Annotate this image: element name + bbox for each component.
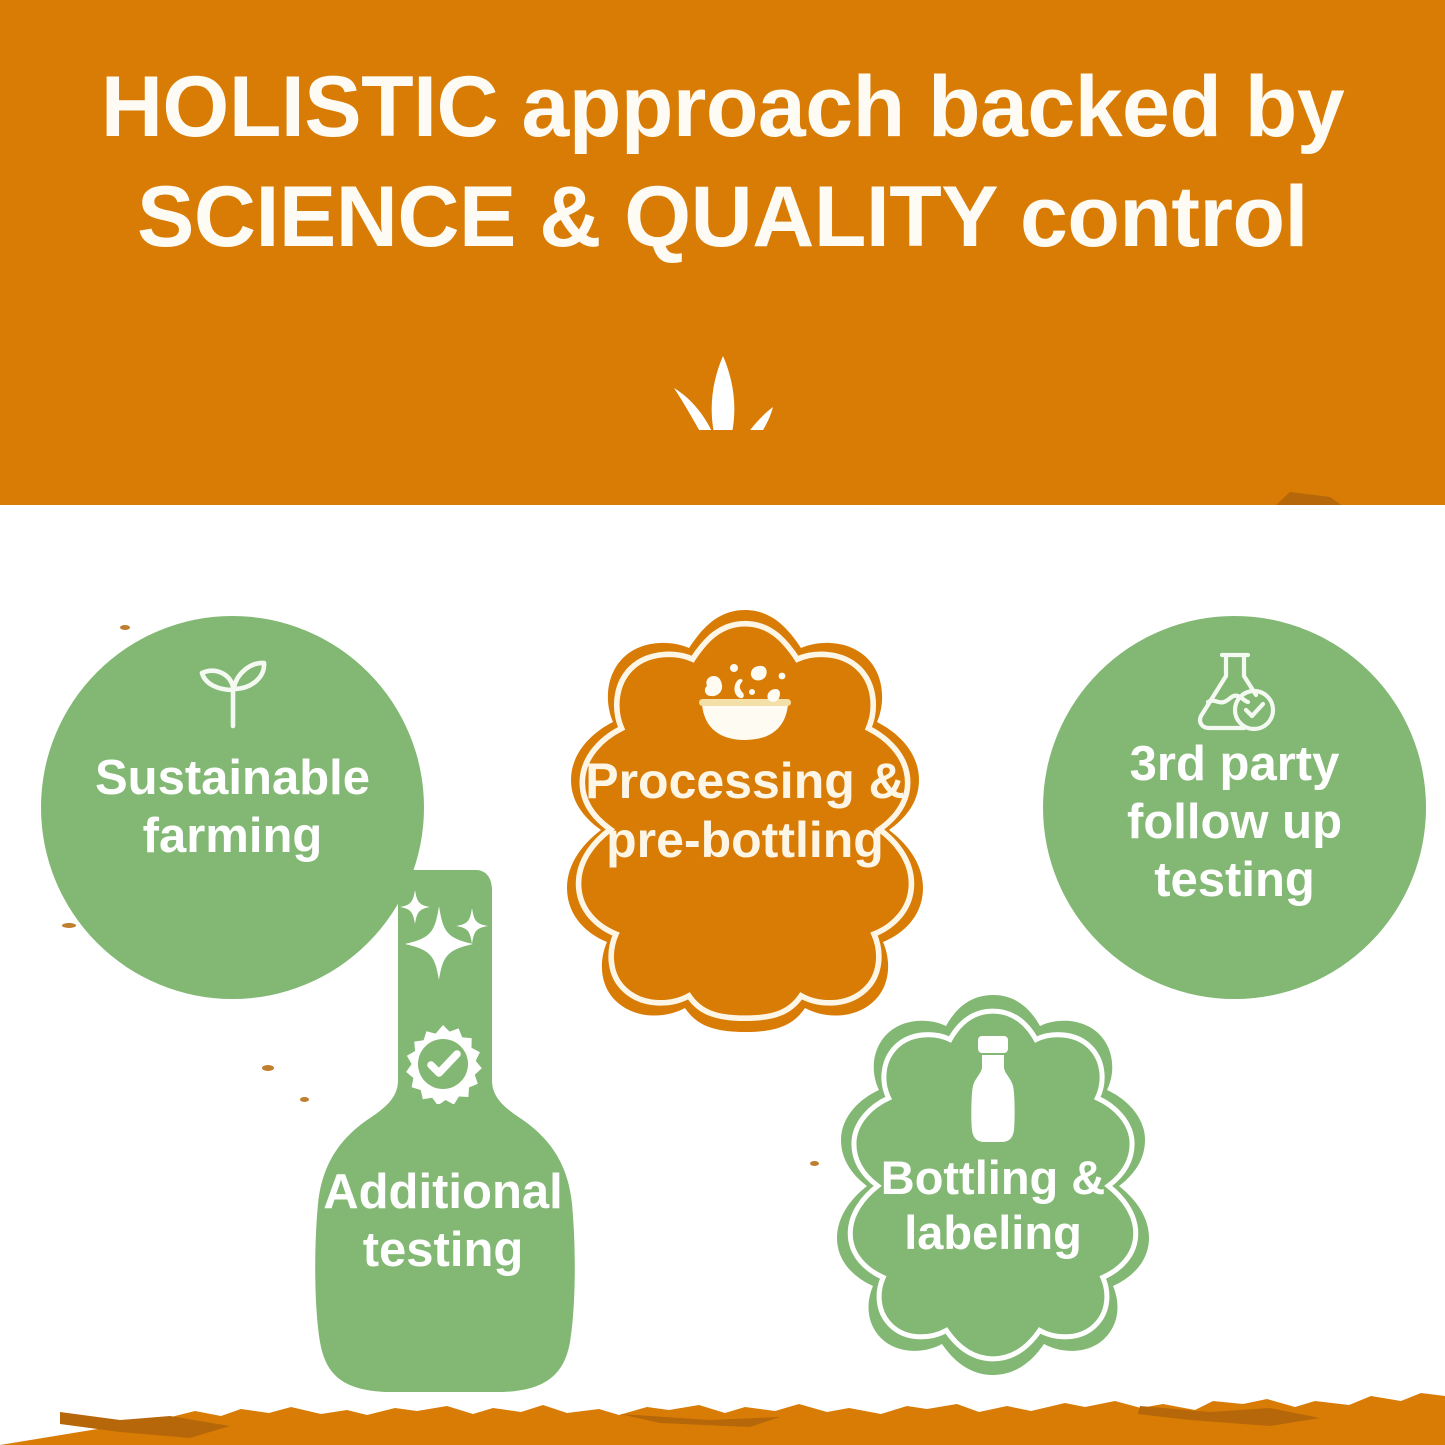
bottom-torn-edge [0,1372,1445,1445]
page-title: HOLISTIC approach backed by SCIENCE & QU… [0,52,1445,272]
headline-line-1: HOLISTIC approach backed by [20,52,1425,162]
process-step-bottling-labeling[interactable]: Bottling & labeling [793,990,1193,1380]
green-scalloped-badge-shape [793,990,1193,1380]
process-step-third-party-testing[interactable]: 3rd party follow up testing [1043,616,1426,999]
bottle-silhouette-shape [296,864,590,1396]
green-circle-shape [1043,616,1426,999]
infographic-poster: HOLISTIC approach backed by SCIENCE & QU… [0,0,1445,1445]
paint-speck [262,1065,274,1071]
headline-line-2: SCIENCE & QUALITY control [20,162,1425,272]
process-step-additional-testing[interactable]: Additional testing [296,864,590,1396]
